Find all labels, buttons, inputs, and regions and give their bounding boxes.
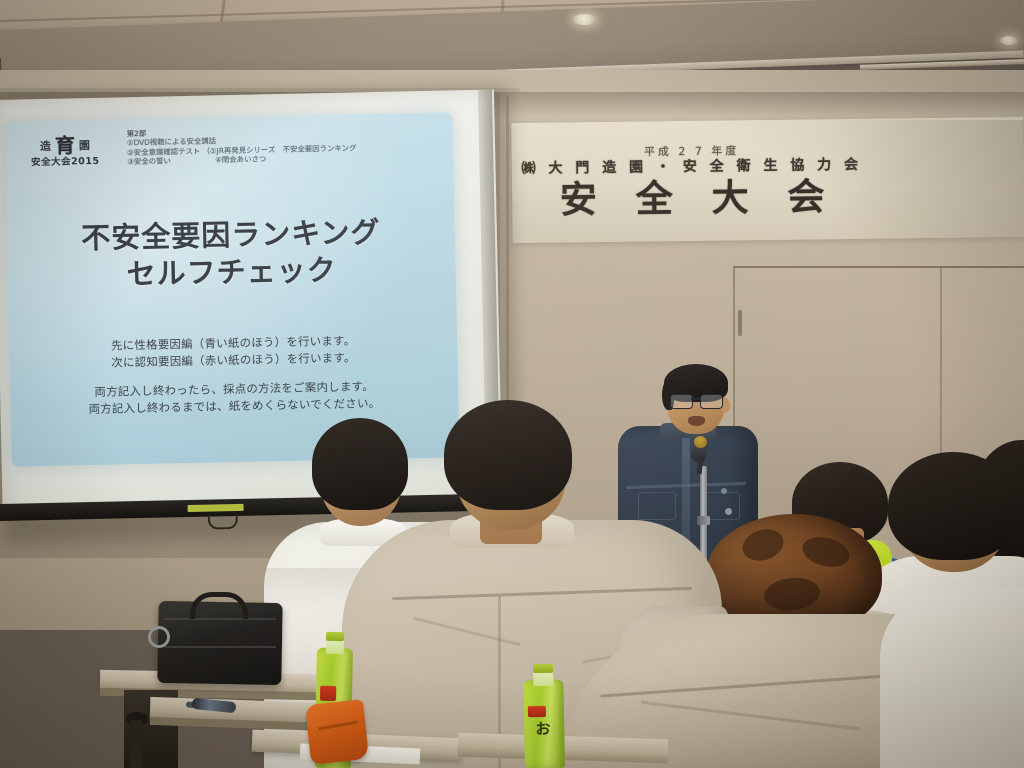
screen-label-sticker bbox=[188, 504, 244, 512]
hair-curl bbox=[799, 533, 852, 572]
slide-logo-left: 造 bbox=[40, 141, 51, 152]
slide-title: 不安全要因ランキング セルフチェック bbox=[7, 212, 456, 295]
photo-scene: 平成 2 7 年度 ㈱ 大 門 造 園 ・ 安 全 衛 生 協 力 会 安 全 … bbox=[0, 0, 1024, 768]
banner-title: 安 全 大 会 bbox=[547, 178, 838, 219]
audience-hair bbox=[444, 400, 572, 510]
laptop-bag-handle[interactable] bbox=[190, 592, 248, 619]
laptop-bag-strap-ring bbox=[148, 626, 170, 648]
bottle-label bbox=[320, 686, 337, 701]
laptop-bag-seam bbox=[164, 646, 276, 648]
slide-program-list: 第2部 ①DVD視聴による安全講話 ②安全意識確認テスト （①JR再発見シリーズ… bbox=[127, 123, 438, 167]
hair-curl bbox=[738, 524, 787, 566]
ceiling-downlight-icon bbox=[1000, 36, 1018, 45]
slide-logo-right: 園 bbox=[79, 140, 90, 151]
door-hinge-icon bbox=[738, 310, 742, 336]
orange-cloth[interactable] bbox=[305, 699, 369, 765]
hair-curl bbox=[762, 575, 821, 613]
ceiling-downlight-icon bbox=[573, 14, 597, 25]
audience-hair bbox=[888, 452, 1018, 560]
tea-bottle[interactable]: お bbox=[523, 664, 565, 768]
wall-banner-text: 平成 2 7 年度 ㈱ 大 門 造 園 ・ 安 全 衛 生 協 力 会 安 全 … bbox=[511, 119, 872, 243]
slide-logo-chars: 造 育 園 bbox=[40, 135, 90, 156]
banner-organization: ㈱ 大 門 造 園 ・ 安 全 衛 生 協 力 会 bbox=[522, 157, 863, 175]
bottle-cap[interactable] bbox=[326, 632, 345, 641]
bottle-label-glyph: お bbox=[535, 722, 550, 737]
screen-pull-cord[interactable] bbox=[208, 514, 238, 530]
wall-banner: 平成 2 7 年度 ㈱ 大 門 造 園 ・ 安 全 衛 生 協 力 会 安 全 … bbox=[511, 117, 1024, 243]
slide-logo: 造 育 園 安全大会2015 bbox=[19, 132, 112, 172]
desk-leg bbox=[130, 720, 142, 768]
bottle-label bbox=[528, 706, 547, 718]
slide-logo-subtitle: 安全大会2015 bbox=[31, 157, 100, 168]
presenter-jacket-button bbox=[721, 488, 727, 494]
audience-foreground-right bbox=[880, 588, 1024, 768]
banner-year: 平成 2 7 年度 bbox=[644, 145, 740, 157]
slide-logo-center: 育 bbox=[55, 136, 75, 156]
bottle-cap[interactable] bbox=[533, 664, 554, 673]
